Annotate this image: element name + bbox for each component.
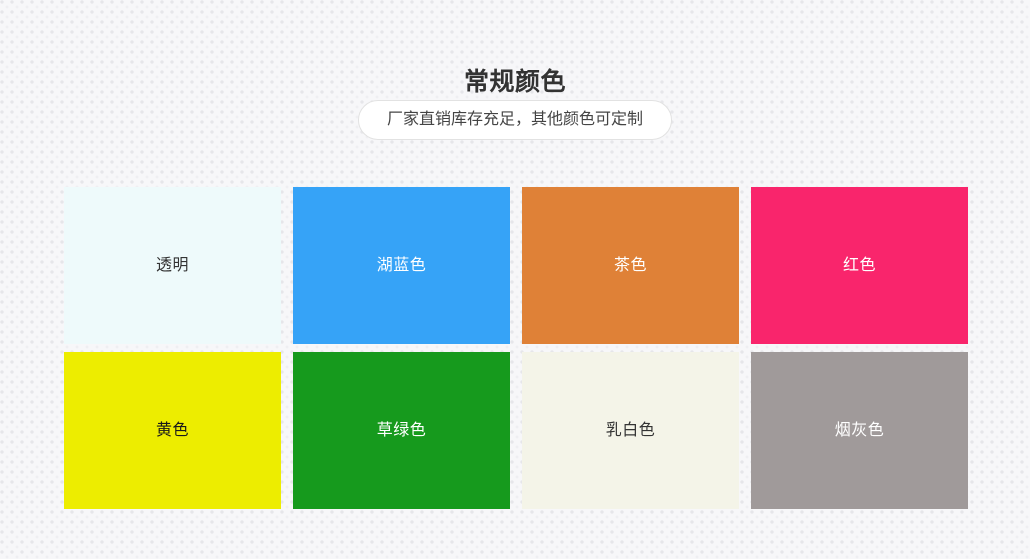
- color-options-page: 常规颜色 厂家直销库存充足，其他颜色可定制 透明 湖蓝色 茶色 红色 黄色 草绿…: [0, 0, 1030, 559]
- color-swatch-red[interactable]: 红色: [751, 187, 968, 344]
- color-swatch-label: 红色: [843, 255, 876, 277]
- color-swatch-label: 草绿色: [377, 420, 427, 442]
- color-swatch-grid: 透明 湖蓝色 茶色 红色 黄色 草绿色 乳白色 烟灰色: [64, 187, 968, 509]
- color-swatch-smoke-gray[interactable]: 烟灰色: [751, 352, 968, 509]
- color-swatch-grass-green[interactable]: 草绿色: [293, 352, 510, 509]
- color-swatch-label: 乳白色: [606, 420, 656, 442]
- color-swatch-transparent[interactable]: 透明: [64, 187, 281, 344]
- color-swatch-label: 烟灰色: [835, 420, 885, 442]
- color-swatch-label: 湖蓝色: [377, 255, 427, 277]
- color-swatch-tea-brown[interactable]: 茶色: [522, 187, 739, 344]
- subtitle-pill: 厂家直销库存充足，其他颜色可定制: [358, 100, 672, 140]
- color-swatch-label: 茶色: [614, 255, 647, 277]
- color-swatch-yellow[interactable]: 黄色: [64, 352, 281, 509]
- page-title: 常规颜色: [0, 65, 1030, 99]
- subtitle-container: 厂家直销库存充足，其他颜色可定制: [0, 100, 1030, 140]
- color-swatch-label: 透明: [156, 255, 189, 277]
- color-swatch-label: 黄色: [156, 420, 189, 442]
- color-swatch-milky-white[interactable]: 乳白色: [522, 352, 739, 509]
- color-swatch-lake-blue[interactable]: 湖蓝色: [293, 187, 510, 344]
